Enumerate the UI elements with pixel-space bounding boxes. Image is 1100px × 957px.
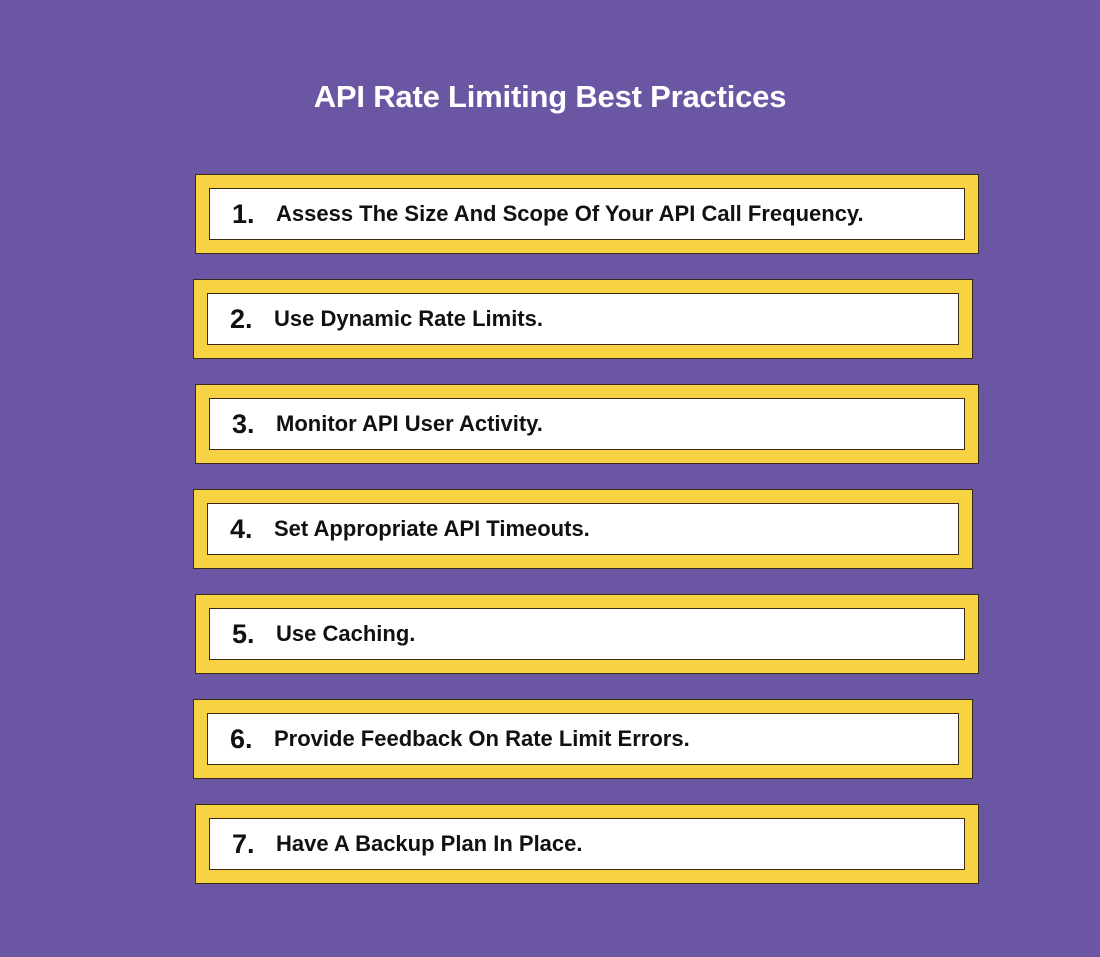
list-item-number: 1. xyxy=(232,201,262,228)
list-item: 6. Provide Feedback On Rate Limit Errors… xyxy=(193,699,973,779)
list-item: 5. Use Caching. xyxy=(195,594,979,674)
list-item-content: 5. Use Caching. xyxy=(209,608,965,660)
list-item-number: 5. xyxy=(232,621,262,648)
best-practices-list: 1. Assess The Size And Scope Of Your API… xyxy=(0,174,1100,884)
list-item-content: 1. Assess The Size And Scope Of Your API… xyxy=(209,188,965,240)
infographic-poster: API Rate Limiting Best Practices 1. Asse… xyxy=(0,0,1100,957)
list-item-label: Have A Backup Plan In Place. xyxy=(276,831,583,856)
list-item: 2. Use Dynamic Rate Limits. xyxy=(193,279,973,359)
list-item-label: Use Dynamic Rate Limits. xyxy=(274,306,543,331)
list-item-content: 2. Use Dynamic Rate Limits. xyxy=(207,293,959,345)
list-item: 4. Set Appropriate API Timeouts. xyxy=(193,489,973,569)
list-item-label: Provide Feedback On Rate Limit Errors. xyxy=(274,726,690,751)
list-item-content: 4. Set Appropriate API Timeouts. xyxy=(207,503,959,555)
list-item-label: Set Appropriate API Timeouts. xyxy=(274,516,590,541)
list-item-number: 3. xyxy=(232,411,262,438)
list-item-content: 6. Provide Feedback On Rate Limit Errors… xyxy=(207,713,959,765)
list-item-label: Assess The Size And Scope Of Your API Ca… xyxy=(276,201,864,226)
list-item-content: 7. Have A Backup Plan In Place. xyxy=(209,818,965,870)
list-item: 7. Have A Backup Plan In Place. xyxy=(195,804,979,884)
page-title: API Rate Limiting Best Practices xyxy=(0,76,1100,118)
list-item-number: 4. xyxy=(230,516,260,543)
list-item-number: 6. xyxy=(230,726,260,753)
list-item-label: Monitor API User Activity. xyxy=(276,411,543,436)
list-item: 3. Monitor API User Activity. xyxy=(195,384,979,464)
list-item-label: Use Caching. xyxy=(276,621,415,646)
list-item-number: 2. xyxy=(230,306,260,333)
list-item-number: 7. xyxy=(232,831,262,858)
list-item: 1. Assess The Size And Scope Of Your API… xyxy=(195,174,979,254)
list-item-content: 3. Monitor API User Activity. xyxy=(209,398,965,450)
